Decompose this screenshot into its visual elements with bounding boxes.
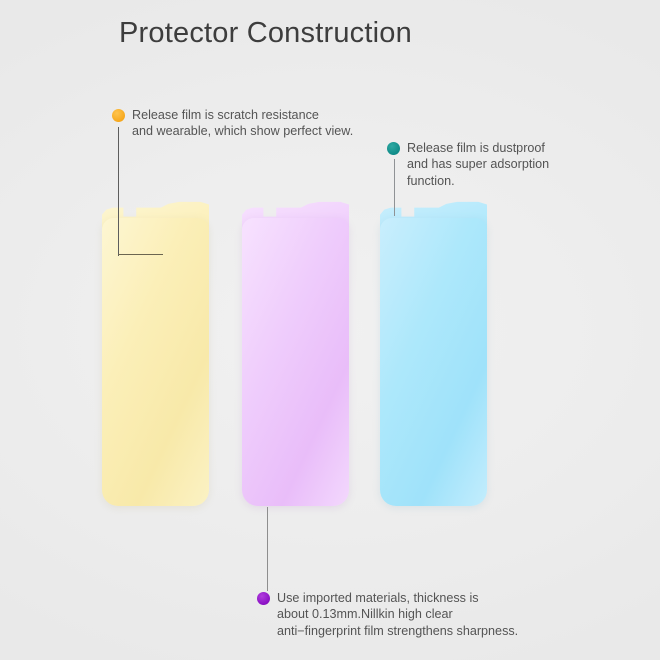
page-title: Protector Construction	[119, 17, 412, 50]
bullet-dot-icon-purple	[257, 592, 270, 605]
leader-line-scratch-horizontal	[118, 254, 163, 255]
callout-scratch-resistance: Release film is scratch resistance and w…	[112, 107, 353, 140]
sheet-body-yellow	[102, 218, 209, 506]
callout-dust-text: Release film is dustproof and has super …	[407, 140, 549, 189]
protector-sheet-pink	[242, 200, 349, 506]
leader-line-material	[267, 507, 268, 591]
sheet-body-blue	[380, 218, 487, 506]
callout-material-text: Use imported materials, thickness is abo…	[277, 590, 518, 639]
callout-dustproof: Release film is dustproof and has super …	[387, 140, 549, 189]
callout-scratch-text: Release film is scratch resistance and w…	[132, 107, 353, 140]
callout-imported-materials: Use imported materials, thickness is abo…	[257, 590, 518, 639]
bullet-dot-icon-orange	[112, 109, 125, 122]
bullet-dot-icon-teal	[387, 142, 400, 155]
diagram-canvas: Protector Construction Release film is s…	[0, 0, 660, 660]
protector-sheet-blue	[380, 200, 487, 506]
sheet-body-pink	[242, 218, 349, 506]
leader-line-scratch-vertical	[118, 127, 119, 256]
